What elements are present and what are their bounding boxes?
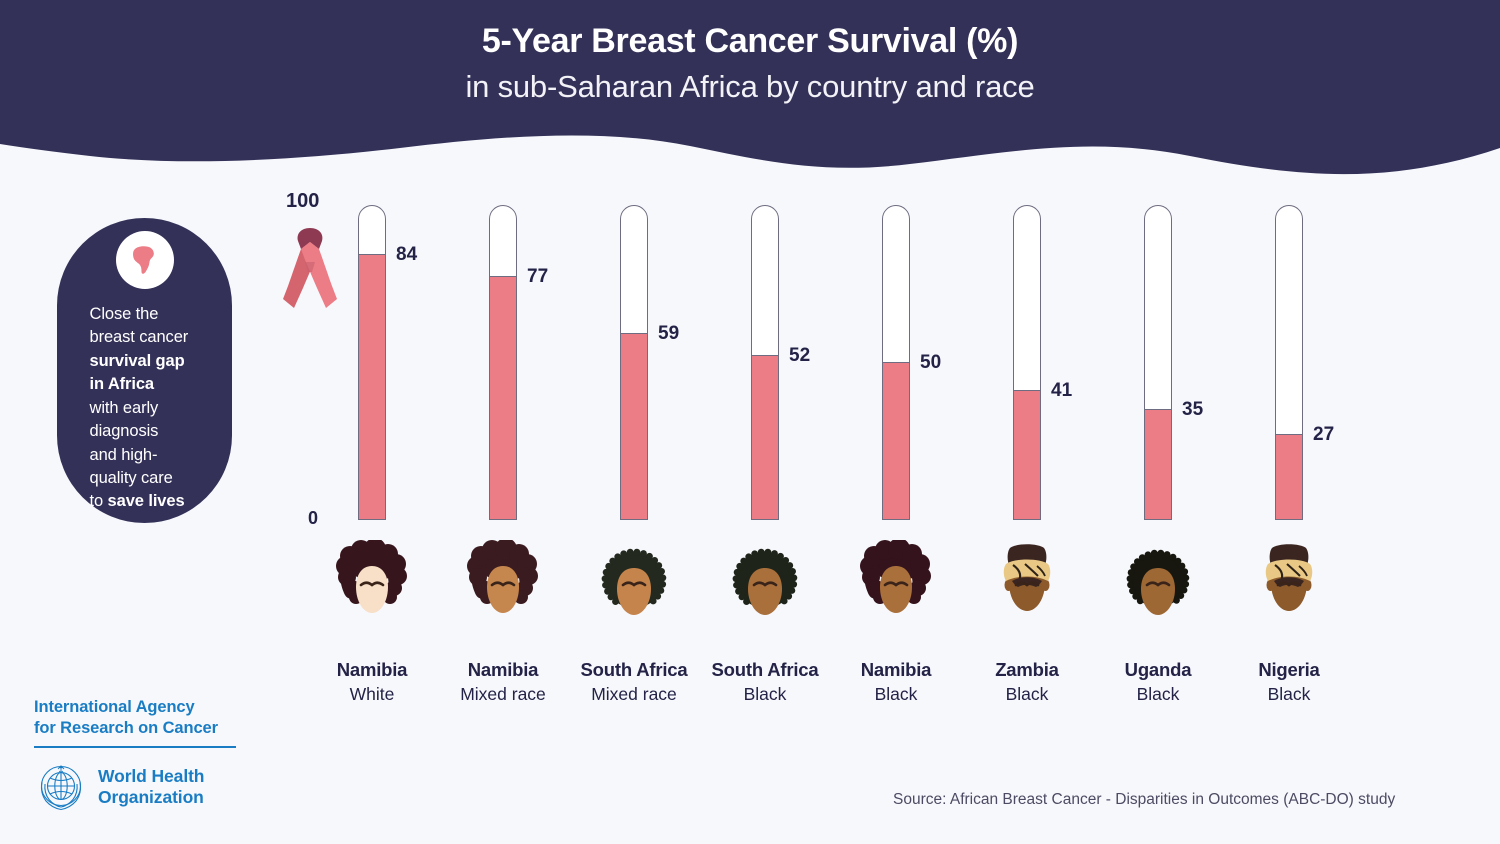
category-label: South AfricaMixed race [568, 659, 700, 705]
who-logo: World Health Organization [34, 760, 204, 814]
who-emblem-icon [34, 760, 88, 814]
bar-track [620, 205, 648, 520]
bar-track [882, 205, 910, 520]
category-label: South AfricaBlack [699, 659, 831, 705]
bar-value-label: 50 [920, 352, 941, 374]
iarc-logo: International Agency for Research on Can… [34, 697, 264, 748]
category-race: Black [830, 684, 962, 705]
woman-mixed-afro-icon [592, 540, 676, 644]
category-country: Namibia [437, 659, 569, 681]
bar-track [489, 205, 517, 520]
bar-value-label: 52 [789, 345, 810, 367]
woman-black-headwrap-icon [1247, 540, 1331, 644]
woman-black-round-afro-icon [1116, 540, 1200, 644]
category-race: Black [961, 684, 1093, 705]
category-label: NamibiaBlack [830, 659, 962, 705]
source-note: Source: African Breast Cancer - Disparit… [893, 791, 1395, 809]
infographic-root: 5-Year Breast Cancer Survival (%) in sub… [0, 0, 1500, 844]
category-race: Black [1223, 684, 1355, 705]
category-race: Mixed race [568, 684, 700, 705]
bar-fill [359, 254, 385, 519]
bar-fill [1014, 390, 1040, 519]
who-line-1: World Health [98, 766, 204, 786]
category-country: Namibia [830, 659, 962, 681]
bar-value-label: 41 [1051, 380, 1072, 402]
iarc-line-1: International Agency [34, 698, 195, 716]
who-line-2: Organization [98, 787, 204, 807]
bar-fill [1145, 409, 1171, 519]
bar-fill [1276, 434, 1302, 519]
iarc-divider [34, 746, 236, 748]
bar-fill [490, 276, 516, 519]
category-country: Nigeria [1223, 659, 1355, 681]
category-country: South Africa [699, 659, 831, 681]
bar-value-label: 27 [1313, 424, 1334, 446]
category-race: Black [1092, 684, 1224, 705]
category-label: NigeriaBlack [1223, 659, 1355, 705]
bar-fill [621, 333, 647, 519]
category-country: South Africa [568, 659, 700, 681]
woman-white-curly-hair-icon [330, 540, 414, 644]
category-label: UgandaBlack [1092, 659, 1224, 705]
category-label: NamibiaMixed race [437, 659, 569, 705]
woman-black-headwrap-icon [985, 540, 1069, 644]
bar-track [751, 205, 779, 520]
woman-mixed-curly-hair-icon [461, 540, 545, 644]
bar-track [1013, 205, 1041, 520]
bar-track [358, 205, 386, 520]
category-label: ZambiaBlack [961, 659, 1093, 705]
category-race: Mixed race [437, 684, 569, 705]
bar-track [1144, 205, 1172, 520]
iarc-line-2: for Research on Cancer [34, 719, 218, 737]
bar-fill [883, 362, 909, 520]
bar-value-label: 59 [658, 323, 679, 345]
category-label: NamibiaWhite [306, 659, 438, 705]
category-country: Zambia [961, 659, 1093, 681]
woman-black-curly-hair-icon [854, 540, 938, 644]
category-race: Black [699, 684, 831, 705]
category-country: Namibia [306, 659, 438, 681]
bar-value-label: 35 [1182, 399, 1203, 421]
bar-value-label: 84 [396, 244, 417, 266]
category-race: White [306, 684, 438, 705]
category-country: Uganda [1092, 659, 1224, 681]
bar-value-label: 77 [527, 266, 548, 288]
woman-black-afro-icon [723, 540, 807, 644]
bar-track [1275, 205, 1303, 520]
bar-fill [752, 355, 778, 519]
